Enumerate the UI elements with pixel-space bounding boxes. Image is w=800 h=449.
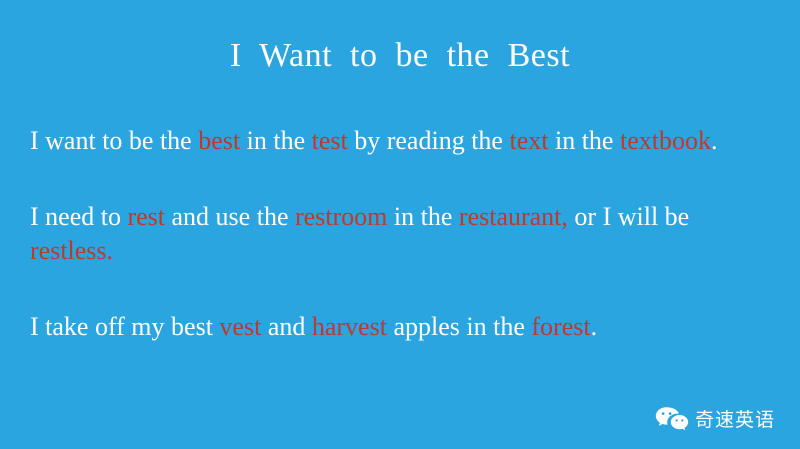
plain-text-run: . bbox=[591, 312, 598, 341]
plain-text-run: in the bbox=[387, 202, 459, 231]
sentence-2: I need to rest and use the restroom in t… bbox=[30, 200, 772, 268]
lesson-text-block: I want to be the best in the test by rea… bbox=[30, 124, 772, 344]
highlighted-word: rest bbox=[127, 202, 165, 231]
highlighted-word: restaurant, bbox=[459, 202, 568, 231]
highlighted-word: restless. bbox=[30, 236, 113, 265]
plain-text-run: and use the bbox=[165, 202, 295, 231]
sentence-3: I take off my best vest and harvest appl… bbox=[30, 310, 772, 344]
highlighted-word: restroom bbox=[295, 202, 387, 231]
plain-text-run: or I will be bbox=[568, 202, 689, 231]
plain-text-run: . bbox=[711, 126, 718, 155]
plain-text-run: in the bbox=[240, 126, 312, 155]
highlighted-word: harvest bbox=[312, 312, 387, 341]
highlighted-word: textbook bbox=[620, 126, 711, 155]
slide-canvas: I Want to be the Best I want to be the b… bbox=[0, 0, 800, 449]
wechat-icon bbox=[655, 406, 689, 434]
plain-text-run: I want to be the bbox=[30, 126, 198, 155]
highlighted-word: text bbox=[509, 126, 548, 155]
page-title: I Want to be the Best bbox=[0, 36, 800, 76]
highlighted-word: best bbox=[198, 126, 240, 155]
highlighted-word: vest bbox=[219, 312, 261, 341]
sentence-1: I want to be the best in the test by rea… bbox=[30, 124, 772, 158]
plain-text-run: apples in the bbox=[387, 312, 531, 341]
highlighted-word: forest bbox=[531, 312, 590, 341]
highlighted-word: test bbox=[312, 126, 348, 155]
plain-text-run: in the bbox=[548, 126, 620, 155]
plain-text-run: by reading the bbox=[348, 126, 510, 155]
plain-text-run: and bbox=[261, 312, 312, 341]
plain-text-run: I take off my best bbox=[30, 312, 219, 341]
watermark: 奇速英语 bbox=[655, 404, 775, 436]
plain-text-run: I need to bbox=[30, 202, 127, 231]
watermark-label: 奇速英语 bbox=[695, 406, 775, 434]
